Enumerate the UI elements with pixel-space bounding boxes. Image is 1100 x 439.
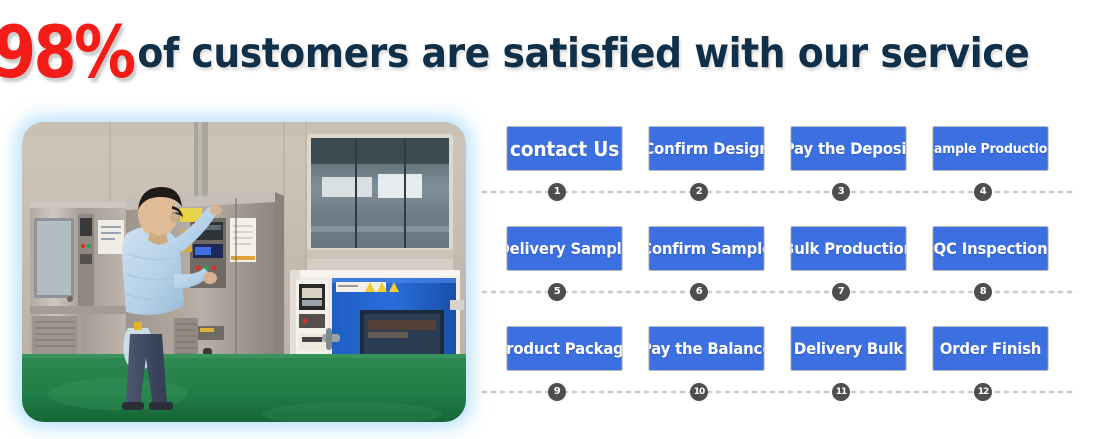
step-button-row-2: Delivery Sample Confirm Sample Bulk Prod… <box>480 226 1076 271</box>
step-badge-4: 4 <box>974 183 992 201</box>
step-button-qc-inspection[interactable]: QC Inspection <box>932 226 1048 271</box>
step-badge-5: 5 <box>548 283 566 301</box>
step-badge-9: 9 <box>548 383 566 401</box>
step-button-product-package[interactable]: Product Package <box>506 326 622 371</box>
page-headline: 98% of customers are satisfied with our … <box>0 0 1100 105</box>
step-track-3: 9 10 11 12 <box>480 383 1076 403</box>
step-row-1: contact Us Confirm Design Pay the Deposi… <box>480 126 1076 226</box>
step-button-pay-the-deposit[interactable]: Pay the Deposit <box>790 126 906 171</box>
step-button-row-1: contact Us Confirm Design Pay the Deposi… <box>480 126 1076 171</box>
headline-text: of customers are satisfied with our serv… <box>130 31 1029 75</box>
step-badge-7: 7 <box>832 283 850 301</box>
step-badge-2: 2 <box>690 183 708 201</box>
step-button-bulk-production[interactable]: Bulk Production <box>790 226 906 271</box>
step-badge-12: 12 <box>974 383 992 401</box>
step-button-confirm-sample[interactable]: Confirm Sample <box>648 226 764 271</box>
step-button-delivery-sample[interactable]: Delivery Sample <box>506 226 622 271</box>
step-button-sample-production[interactable]: Sample Production <box>932 126 1048 171</box>
step-button-order-finish[interactable]: Order Finish <box>932 326 1048 371</box>
step-row-3: Product Package Pay the Balance Delivery… <box>480 326 1076 426</box>
step-badge-10: 10 <box>690 383 708 401</box>
step-track-1: 1 2 3 4 <box>480 183 1076 203</box>
step-badge-11: 11 <box>832 383 850 401</box>
step-badge-1: 1 <box>548 183 566 201</box>
step-badge-3: 3 <box>832 183 850 201</box>
step-button-contact-us[interactable]: contact Us <box>506 126 622 171</box>
step-button-delivery-bulk[interactable]: Delivery Bulk <box>790 326 906 371</box>
step-button-row-3: Product Package Pay the Balance Delivery… <box>480 326 1076 371</box>
order-process-steps: contact Us Confirm Design Pay the Deposi… <box>480 126 1076 426</box>
headline-percentage: 98% <box>0 16 133 88</box>
step-badge-8: 8 <box>974 283 992 301</box>
step-track-2: 5 6 7 8 <box>480 283 1076 303</box>
factory-photo-panel <box>22 122 466 422</box>
factory-photo <box>22 122 466 422</box>
step-button-pay-the-balance[interactable]: Pay the Balance <box>648 326 764 371</box>
step-row-2: Delivery Sample Confirm Sample Bulk Prod… <box>480 226 1076 326</box>
step-button-confirm-design[interactable]: Confirm Design <box>648 126 764 171</box>
step-badge-6: 6 <box>690 283 708 301</box>
